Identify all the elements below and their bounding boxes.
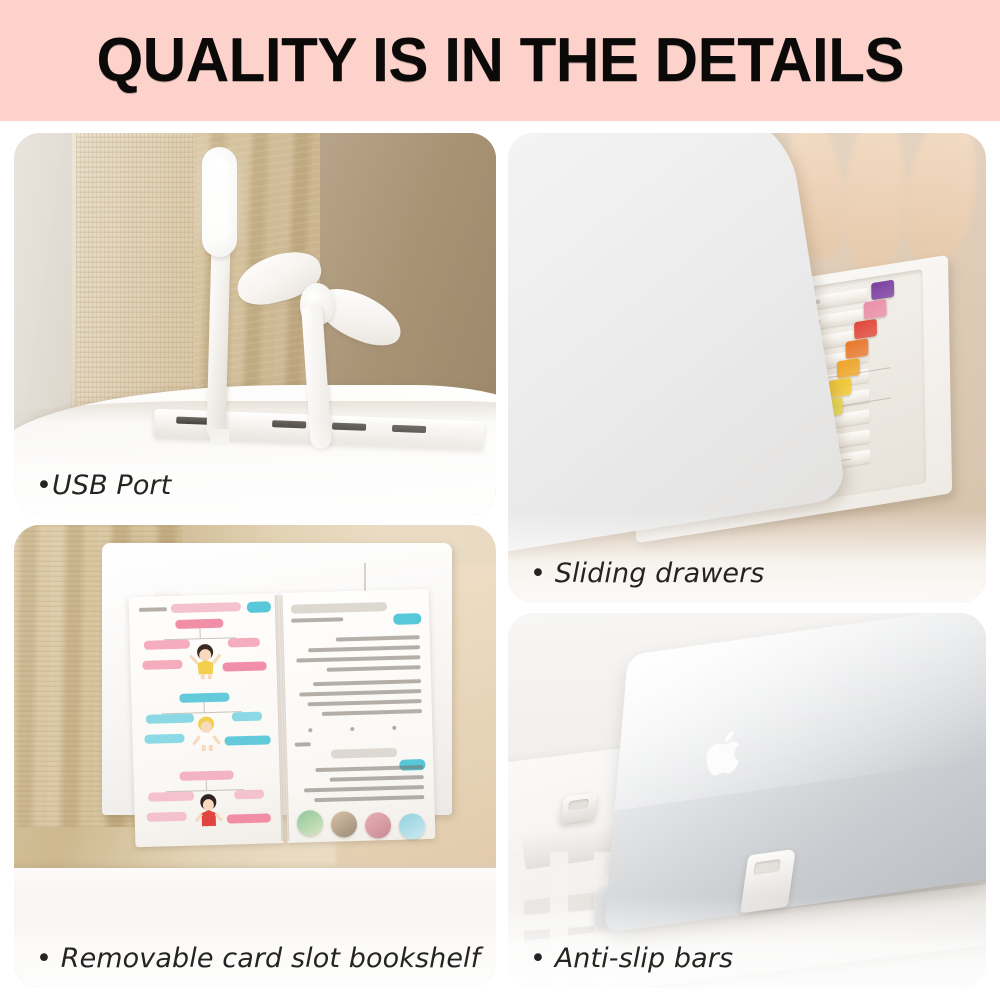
marker-cap xyxy=(871,280,894,301)
marker-cap xyxy=(864,299,887,320)
book-page-right xyxy=(281,589,436,843)
mindmap-node xyxy=(144,640,190,650)
mindmap-node xyxy=(232,712,262,722)
anti-slip-pad xyxy=(568,799,589,811)
feature-panel-bookshelf: • Removable card slot bookshelf xyxy=(14,525,496,988)
mindmap-link xyxy=(206,780,207,790)
page-text-line xyxy=(308,645,420,652)
caption-anti-slip-bars: • Anti-slip bars xyxy=(508,943,986,988)
page-bullet xyxy=(308,728,312,732)
page-bullet xyxy=(392,726,396,730)
page-text-line xyxy=(299,689,421,696)
page-text-line xyxy=(295,742,311,746)
marker-cap xyxy=(837,358,860,379)
mindmap-node xyxy=(144,734,184,744)
usb-port-slot xyxy=(332,423,366,431)
usb-led-lamp-plug xyxy=(210,429,229,445)
feature-panel-usb-port: •USB Port xyxy=(14,133,496,515)
apple-logo-icon xyxy=(704,726,750,781)
feature-panel-anti-slip-bars: • Anti-slip bars xyxy=(508,613,986,988)
cartoon-figure xyxy=(192,793,225,832)
led-light-glow xyxy=(211,159,228,241)
mindmap-node xyxy=(224,735,270,745)
page-photo-thumb xyxy=(365,812,392,839)
caption-usb-port: •USB Port xyxy=(14,470,496,515)
page-photo-thumb xyxy=(297,810,324,837)
page-text-line xyxy=(139,607,167,611)
sliding-drawers-photo: • Sliding drawers xyxy=(508,133,986,603)
page-tab xyxy=(393,613,421,625)
mindmap-node xyxy=(222,661,266,671)
mindmap-link xyxy=(199,628,200,638)
page-text-line xyxy=(296,655,420,662)
cartoon-figure xyxy=(188,643,223,680)
page-bullet xyxy=(350,727,354,731)
page-title: QUALITY IS IN THE DETAILS xyxy=(96,30,904,92)
page-heading xyxy=(291,602,387,614)
anti-slip-bar-right xyxy=(740,849,796,913)
anti-slip-bar-left xyxy=(560,792,597,824)
page-text-line xyxy=(330,775,424,781)
mindmap-node xyxy=(234,790,264,800)
caption-bookshelf: • Removable card slot bookshelf xyxy=(14,943,496,988)
page-photo-thumb xyxy=(399,813,426,840)
page-photo-thumb xyxy=(331,811,358,838)
mindmap-node xyxy=(148,792,194,802)
page-text-line xyxy=(304,785,424,792)
mindmap-node xyxy=(146,713,194,723)
bookshelf-photo: • Removable card slot bookshelf xyxy=(14,525,496,988)
cartoon-figure xyxy=(190,715,223,752)
feature-panel-sliding-drawers: • Sliding drawers xyxy=(508,133,986,603)
page-text-line xyxy=(314,795,424,802)
anti-slip-bars-photo: • Anti-slip bars xyxy=(508,613,986,988)
mindmap-node xyxy=(147,812,187,822)
usb-port-slot xyxy=(392,425,426,433)
header-banner: QUALITY IS IN THE DETAILS xyxy=(0,0,1000,121)
page-text-line xyxy=(291,617,343,622)
desk-corner-surface xyxy=(508,133,847,563)
page-tab xyxy=(247,601,271,613)
page-text-line xyxy=(313,679,421,686)
usb-port-photo: •USB Port xyxy=(14,133,496,515)
book-page-left xyxy=(129,593,284,847)
page-text-line xyxy=(322,709,422,715)
marker-cap xyxy=(845,338,868,359)
mindmap-node xyxy=(227,813,271,823)
feature-panel-grid: •USB Port xyxy=(0,121,1000,1000)
mindmap-node xyxy=(228,638,260,648)
mindmap-link xyxy=(204,702,205,712)
page-text-line xyxy=(336,635,420,641)
macbook-laptop xyxy=(604,613,986,933)
anti-slip-pad xyxy=(753,859,780,875)
page-heading-highlight xyxy=(171,602,241,613)
mindmap-node xyxy=(142,660,182,670)
usb-port-slot xyxy=(272,420,306,428)
marker-cap xyxy=(854,319,877,340)
page-text-line xyxy=(308,699,422,706)
open-book xyxy=(129,589,438,847)
page-text-line xyxy=(315,765,423,772)
page-text-line xyxy=(327,665,421,671)
caption-sliding-drawers: • Sliding drawers xyxy=(508,558,986,603)
usb-port-slot xyxy=(176,417,210,425)
page-heading xyxy=(331,748,397,759)
marker-cap xyxy=(828,377,851,398)
